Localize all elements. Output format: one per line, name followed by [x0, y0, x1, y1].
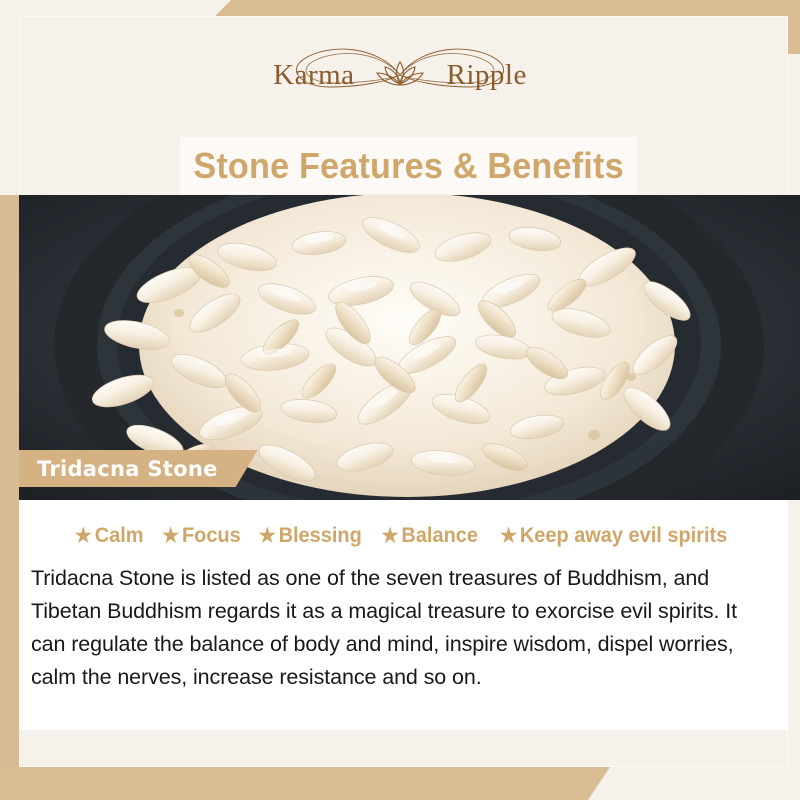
benefit-item: ★ Keep away evil spirits — [500, 524, 727, 548]
star-icon: ★ — [162, 526, 179, 546]
brand-name-right: Ripple — [447, 59, 527, 92]
benefit-label: Blessing — [279, 524, 362, 548]
brand-name-left: Karma — [273, 59, 354, 92]
star-icon: ★ — [75, 526, 92, 546]
product-name: Tridacna Stone — [37, 457, 218, 481]
product-description: Tridacna Stone is listed as one of the s… — [31, 562, 777, 694]
star-icon: ★ — [381, 526, 398, 546]
product-label-banner: Tridacna Stone — [19, 450, 258, 487]
benefit-item: ★ Balance — [381, 524, 477, 548]
brand-logo: Karma Ripple — [250, 39, 550, 111]
content-panel: ★ Calm ★ Focus ★ Blessing ★ Balance ★ Ke… — [19, 500, 788, 730]
product-infographic: Karma Ripple Stone Features & Benefits — [0, 0, 800, 800]
benefit-item: ★ Calm — [75, 524, 144, 548]
benefit-item: ★ Focus — [162, 524, 241, 548]
brand-header: Karma Ripple — [0, 16, 800, 134]
brand-wordmark: Karma Ripple — [250, 59, 550, 92]
bottom-accent-band — [0, 767, 610, 800]
section-title-banner: Stone Features & Benefits — [180, 137, 637, 194]
top-accent-band — [215, 0, 800, 16]
benefit-label: Balance — [401, 524, 478, 548]
star-icon: ★ — [500, 526, 517, 546]
benefit-label: Calm — [95, 524, 144, 548]
benefit-item: ★ Blessing — [259, 524, 362, 548]
benefit-label: Focus — [182, 524, 241, 548]
star-icon: ★ — [259, 526, 276, 546]
left-accent-strip — [0, 195, 19, 768]
benefit-label: Keep away evil spirits — [520, 524, 727, 548]
benefits-list: ★ Calm ★ Focus ★ Blessing ★ Balance ★ Ke… — [19, 524, 788, 548]
page-title: Stone Features & Benefits — [193, 145, 623, 187]
